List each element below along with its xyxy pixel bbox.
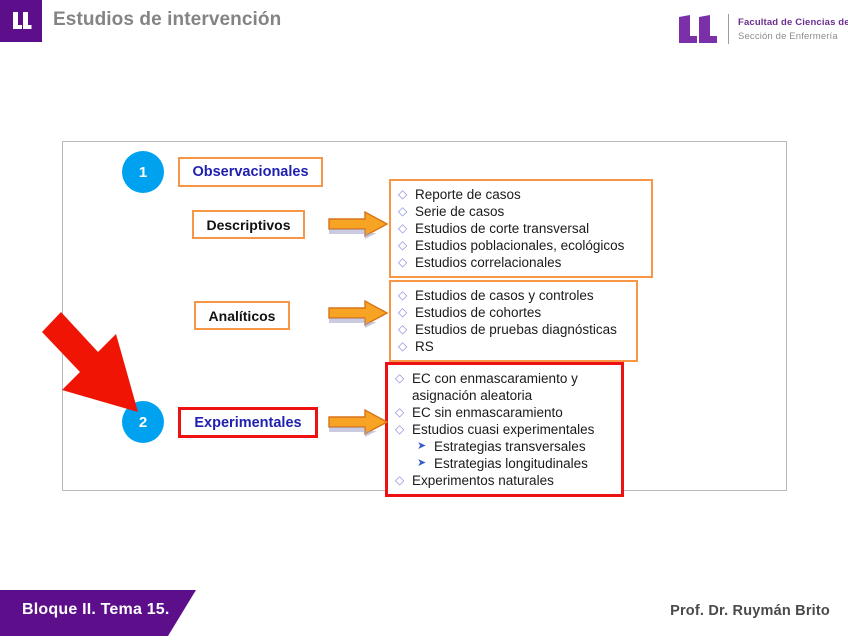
diamond-bullet-icon: ◇ [398,287,415,304]
step-circle-1: 1 [122,151,164,193]
label-descriptivos: Descriptivos [192,210,305,239]
list-item-text: Serie de casos [415,203,643,220]
list-item: ◇ Experimentos naturales [395,472,613,489]
page-header: Estudios de intervención Facultad de Cie… [0,0,848,58]
list-item: ◇ Estudios de pruebas diagnósticas [398,321,628,338]
list-sub-item: ➤ Estrategias longitudinales [395,455,613,472]
list-item-text: Estudios de pruebas diagnósticas [415,321,628,338]
page-footer: Bloque II. Tema 15. Prof. Dr. Ruymán Bri… [0,590,848,636]
list-item-text: RS [415,338,628,355]
list-item: ◇ EC sin enmascaramiento [395,404,613,421]
big-red-arrow-icon [26,306,176,422]
list-item-text: Estudios poblacionales, ecológicos [415,237,643,254]
brand-divider [728,14,729,44]
diamond-bullet-icon: ◇ [398,237,415,254]
list-item-text: Experimentos naturales [412,472,613,489]
diamond-bullet-icon: ◇ [398,186,415,203]
list-item: ◇ Estudios correlacionales [398,254,643,271]
label-observacionales: Observacionales [178,157,323,187]
list-item-text: EC sin enmascaramiento [412,404,613,421]
list-item-text: Estudios de corte transversal [415,220,643,237]
list-box-descriptivos: ◇ Reporte de casos ◇ Serie de casos ◇ Es… [389,179,653,278]
list-item-text: EC con enmascaramiento y asignación alea… [412,370,613,404]
list-item: ◇ EC con enmascaramiento y asignación al… [395,370,613,404]
list-item: ◇ RS [398,338,628,355]
label-descriptivos-text: Descriptivos [206,217,290,233]
list-item-text: Estudios correlacionales [415,254,643,271]
list-item: ◇ Serie de casos [398,203,643,220]
footer-block-label: Bloque II. Tema 15. [22,601,170,619]
diamond-bullet-icon: ◇ [398,321,415,338]
list-item-text: Estudios de casos y controles [415,287,628,304]
diamond-bullet-icon: ◇ [398,338,415,355]
diamond-bullet-icon: ◇ [395,404,412,421]
page-title: Estudios de intervención [53,9,281,31]
right-arrow-icon [327,407,390,438]
faculty-brand-logo: Facultad de Ciencias de la Salud Sección… [676,12,842,48]
list-item: ◇ Estudios cuasi experimentales [395,421,613,438]
ull-brand-mark-icon [676,13,720,45]
list-item-text: Estudios cuasi experimentales [412,421,613,438]
list-item-text: Estudios de cohortes [415,304,628,321]
footer-author-label: Prof. Dr. Ruymán Brito [670,603,830,619]
right-arrow-icon [327,209,390,240]
list-item: ◇ Reporte de casos [398,186,643,203]
diamond-bullet-icon: ◇ [395,370,412,387]
list-item: ◇ Estudios de cohortes [398,304,628,321]
list-item: ◇ Estudios de casos y controles [398,287,628,304]
brand-section-name: Sección de Enfermería [738,31,838,42]
label-observacionales-text: Observacionales [192,164,308,180]
diamond-bullet-icon: ◇ [398,304,415,321]
label-analiticos-text: Analíticos [209,308,276,324]
diamond-bullet-icon: ◇ [398,220,415,237]
list-box-analiticos: ◇ Estudios de casos y controles ◇ Estudi… [389,280,638,362]
label-experimentales: Experimentales [178,407,318,438]
right-arrow-icon [327,298,390,329]
diamond-bullet-icon: ◇ [395,421,412,438]
arrow-bullet-icon: ➤ [417,455,434,472]
step-circle-1-label: 1 [139,164,147,181]
arrow-bullet-icon: ➤ [417,438,434,455]
list-sub-item-text: Estrategias transversales [434,438,613,455]
list-item: ◇ Estudios poblacionales, ecológicos [398,237,643,254]
diamond-bullet-icon: ◇ [398,203,415,220]
list-sub-item: ➤ Estrategias transversales [395,438,613,455]
brand-faculty-name: Facultad de Ciencias de la Salud [738,17,848,28]
label-analiticos: Analíticos [194,301,290,330]
diamond-bullet-icon: ◇ [395,472,412,489]
ull-logo-icon [0,0,42,42]
list-box-experimentales: ◇ EC con enmascaramiento y asignación al… [385,362,624,497]
diamond-bullet-icon: ◇ [398,254,415,271]
list-sub-item-text: Estrategias longitudinales [434,455,613,472]
list-item: ◇ Estudios de corte transversal [398,220,643,237]
list-item-text: Reporte de casos [415,186,643,203]
label-experimentales-text: Experimentales [194,415,301,431]
